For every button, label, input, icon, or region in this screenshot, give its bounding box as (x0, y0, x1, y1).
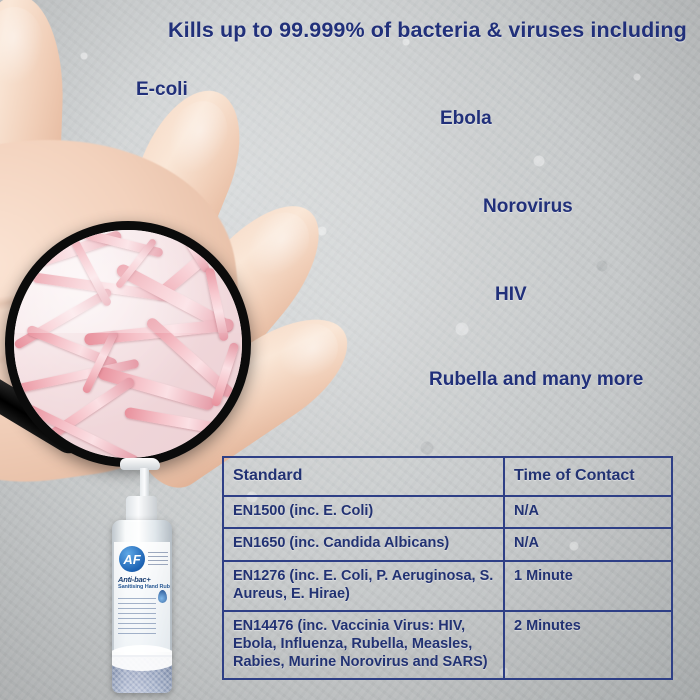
cell-time: 2 Minutes (504, 611, 672, 679)
cell-standard: EN1650 (inc. Candida Albicans) (223, 528, 504, 561)
bottle-label: AF Anti-bac+ Sanitising Hand Rub (114, 542, 170, 652)
column-header-standard: Standard (223, 457, 504, 496)
label-body-text (118, 594, 156, 634)
cell-standard: EN1276 (inc. E. Coli, P. Aeruginosa, S. … (223, 561, 504, 611)
cell-time: 1 Minute (504, 561, 672, 611)
product-name: Anti-bac+ (118, 575, 151, 584)
magnifying-glass (5, 221, 251, 467)
table-row: EN1500 (inc. E. Coli) N/A (223, 496, 672, 529)
pump-collar (126, 496, 157, 522)
efficacy-standards-table: Standard Time of Contact EN1500 (inc. E.… (222, 456, 673, 680)
product-bottle: AF Anti-bac+ Sanitising Hand Rub (104, 458, 178, 693)
table-row: EN1650 (inc. Candida Albicans) N/A (223, 528, 672, 561)
table-row: EN14476 (inc. Vaccinia Virus: HIV, Ebola… (223, 611, 672, 679)
germ-label-ecoli: E-coli (136, 79, 188, 101)
droplet-icon (158, 590, 167, 603)
pump-neck (140, 468, 149, 498)
table-row: EN1276 (inc. E. Coli, P. Aeruginosa, S. … (223, 561, 672, 611)
page-title: Kills up to 99.999% of bacteria & viruse… (168, 18, 687, 43)
label-side-text (148, 550, 168, 565)
bottle-base-curve (112, 645, 172, 671)
cell-standard: EN14476 (inc. Vaccinia Virus: HIV, Ebola… (223, 611, 504, 679)
germ-label-ebola: Ebola (440, 108, 492, 130)
cell-time: N/A (504, 528, 672, 561)
column-header-time-of-contact: Time of Contact (504, 457, 672, 496)
promo-image: Kills up to 99.999% of bacteria & viruse… (0, 0, 700, 700)
table-header-row: Standard Time of Contact (223, 457, 672, 496)
germ-label-hiv: HIV (495, 284, 527, 306)
bottle-base-band (112, 655, 172, 693)
cell-standard: EN1500 (inc. E. Coli) (223, 496, 504, 529)
af-brand-logo: AF (119, 546, 145, 572)
germ-label-norovirus: Norovirus (483, 196, 573, 218)
bottle-body: AF Anti-bac+ Sanitising Hand Rub (112, 520, 172, 693)
magnified-bacteria-view (14, 230, 242, 458)
cell-time: N/A (504, 496, 672, 529)
germ-label-rubella: Rubella and many more (429, 369, 643, 391)
